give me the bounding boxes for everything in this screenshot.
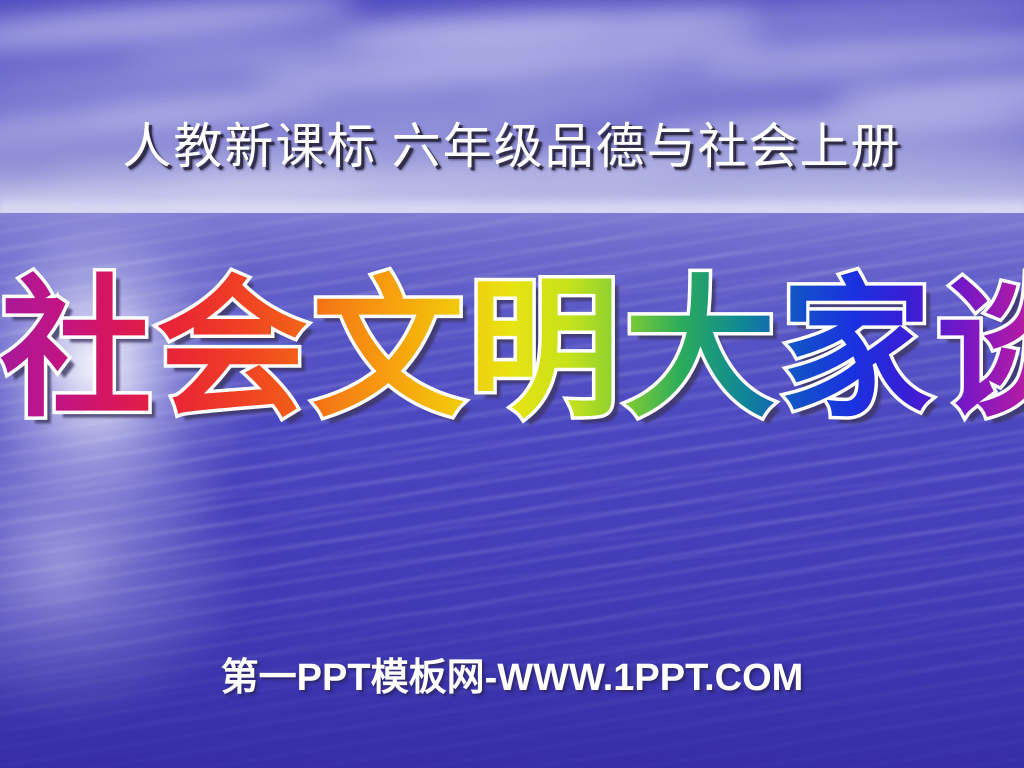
footer-watermark: 第一PPT模板网-WWW.1PPT.COM [0, 655, 1024, 701]
sky-background [0, 0, 1024, 216]
slide-title: 社会文明大家谈 社会文明大家谈 社会文明大家谈 [0, 262, 1024, 462]
presentation-slide: 人教新课标 六年级品德与社会上册 社会文明大家谈 社会文明大家谈 社会文明大家谈… [0, 0, 1024, 768]
title-gradient-layer: 社会文明大家谈 [0, 262, 1024, 440]
slide-subtitle: 人教新课标 六年级品德与社会上册 [0, 118, 1024, 176]
